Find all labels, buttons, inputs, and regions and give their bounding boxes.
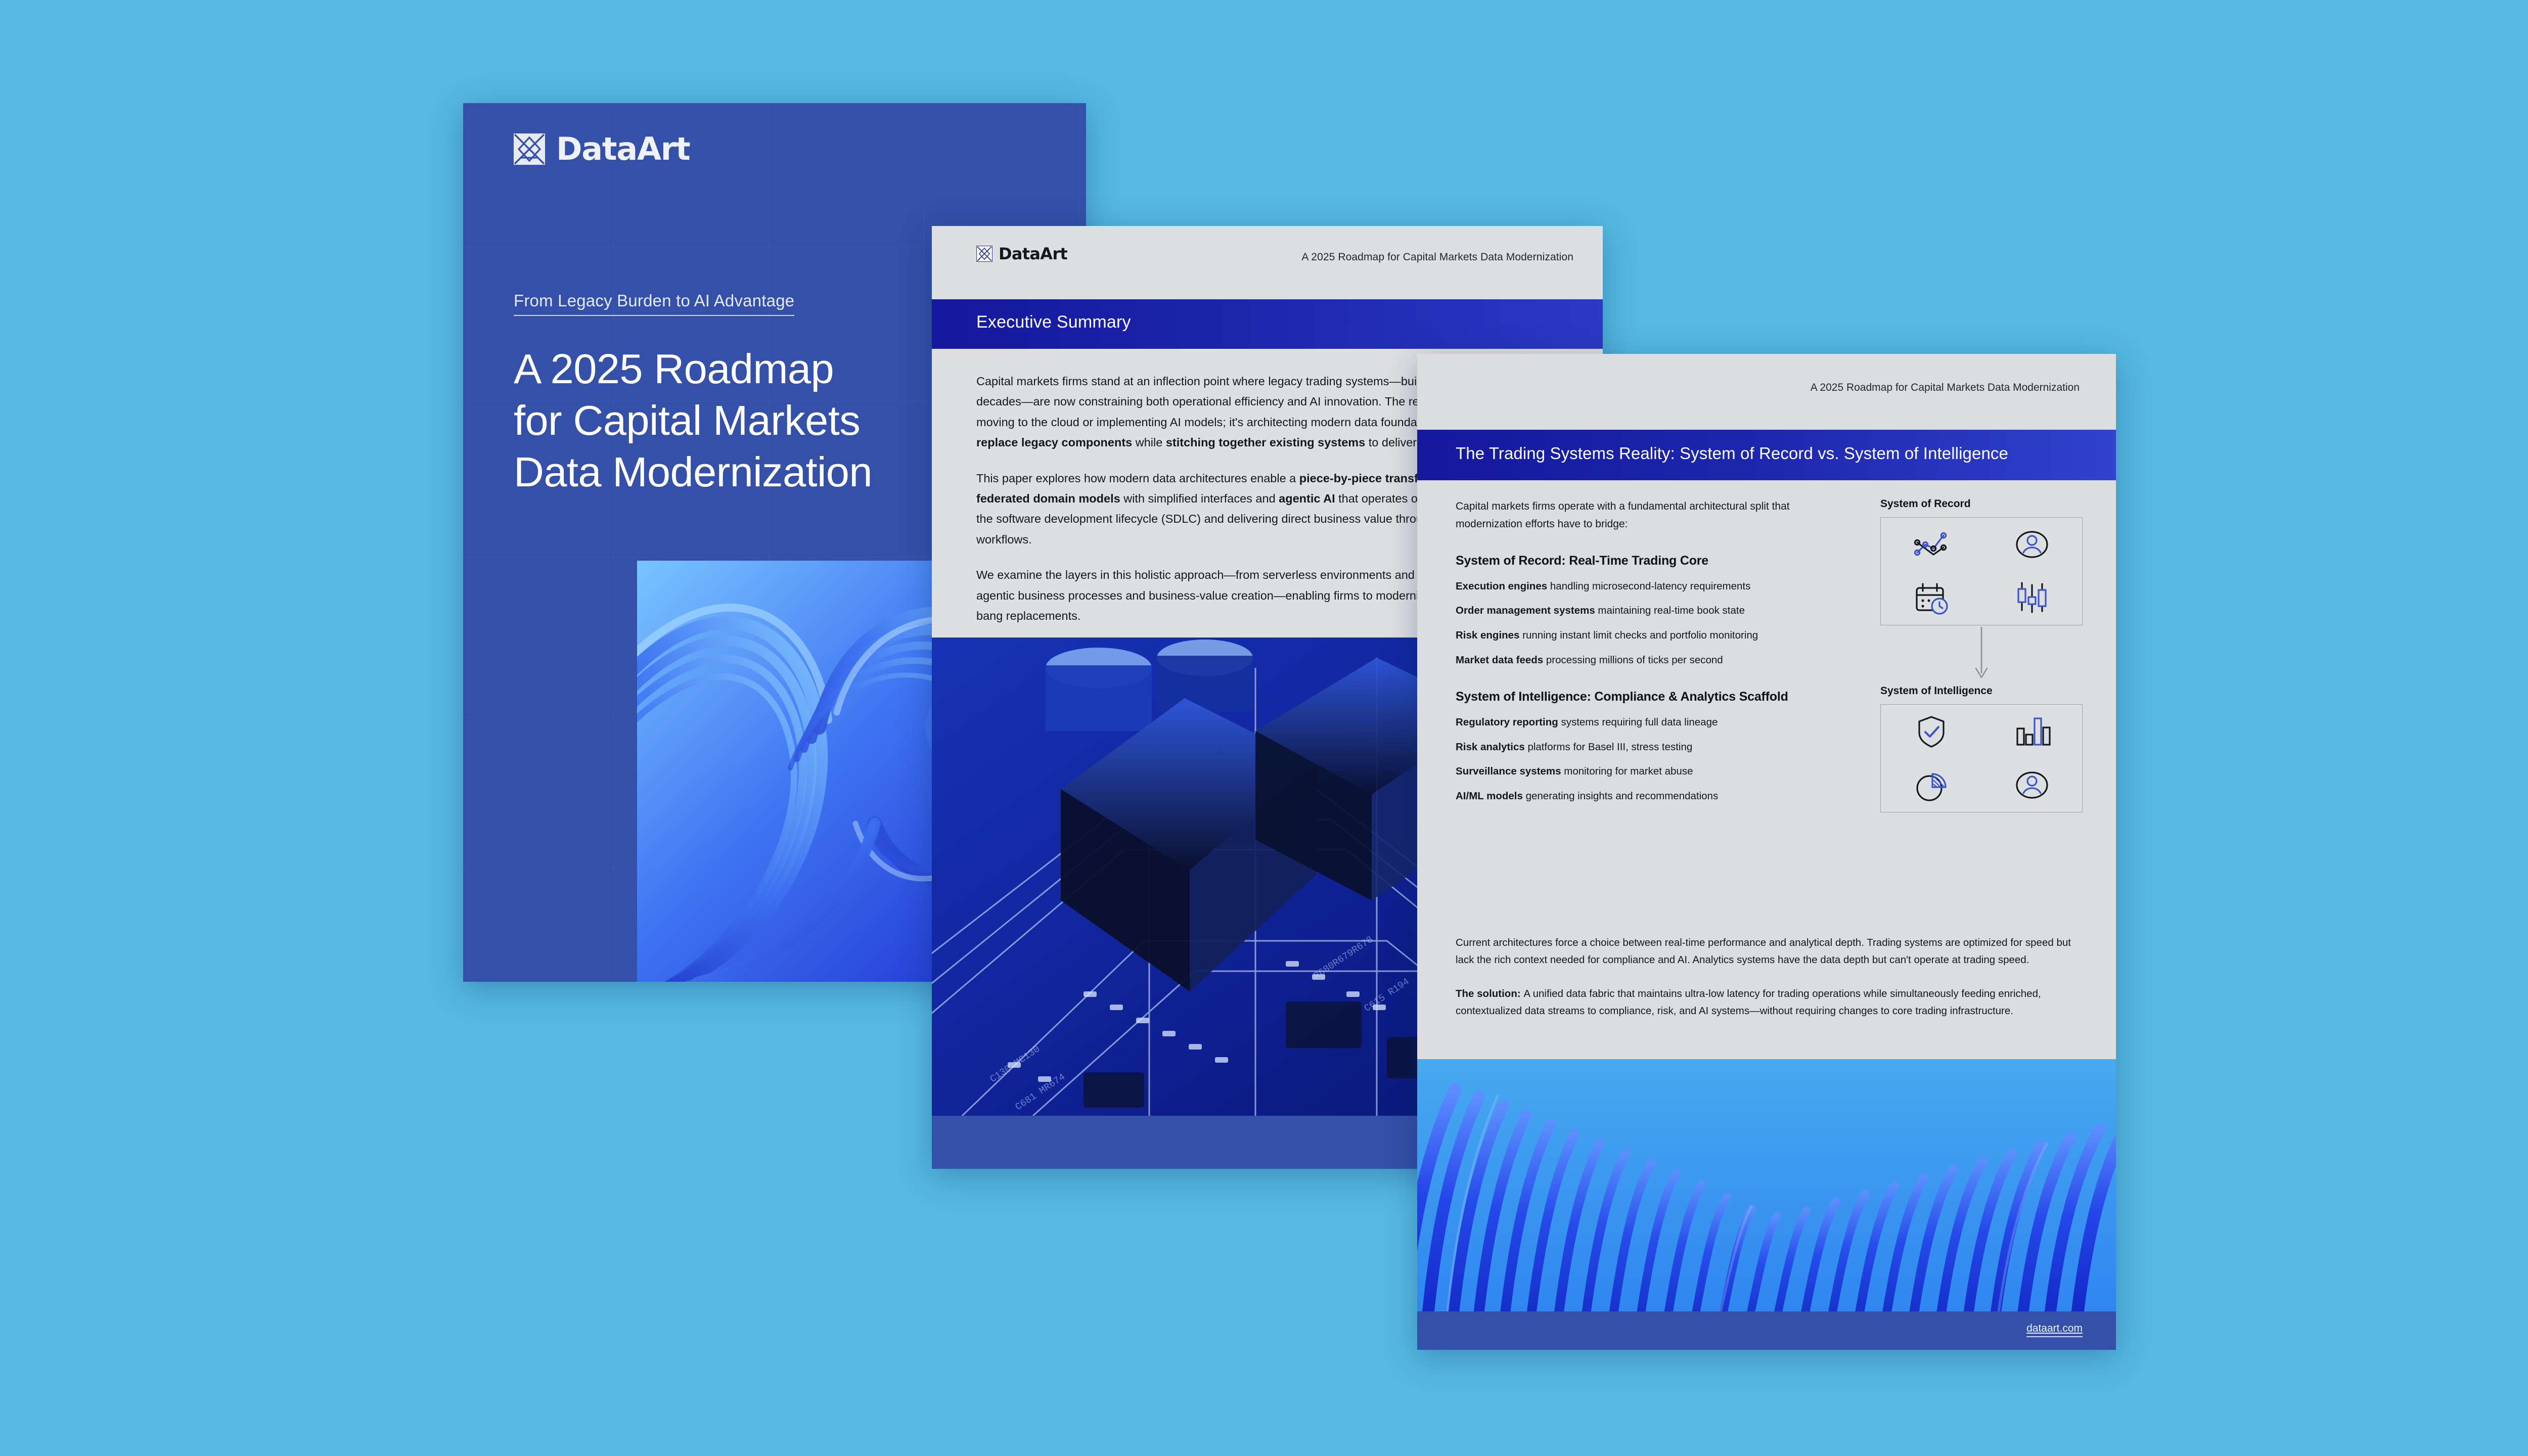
list-item-text: generating insights and recommendations xyxy=(1523,790,1718,802)
list-item-text: systems requiring full data lineage xyxy=(1558,716,1718,728)
list-item: Regulatory reporting systems requiring f… xyxy=(1456,714,1856,731)
emphasis-text: The solution: xyxy=(1456,988,1523,999)
list-item-text: handling microsecond-latency requirement… xyxy=(1547,580,1750,592)
right-text-column: Capital markets firms operate with a fun… xyxy=(1456,498,1856,826)
list-item: Risk engines running instant limit check… xyxy=(1456,627,1856,644)
line-chart-nodes-icon xyxy=(1910,523,1953,566)
mid-page-logo: DataArt xyxy=(976,244,1067,263)
right-running-head: A 2025 Roadmap for Capital Markets Data … xyxy=(1811,382,2080,394)
candlestick-chart-icon xyxy=(2011,577,2053,619)
right-group-list: System of Record: Real-Time Trading Core… xyxy=(1456,554,1856,804)
abstract-blue-wave-photo xyxy=(1417,1059,2116,1312)
list-item-lead: Order management systems xyxy=(1456,605,1595,616)
emphasis-text: agentic AI xyxy=(1279,492,1335,505)
shield-check-icon xyxy=(1910,710,1953,753)
body-text: with simplified interfaces and xyxy=(1120,492,1279,505)
list-item-lead: Surveillance systems xyxy=(1456,765,1561,777)
bar-chart-icon xyxy=(2011,710,2053,753)
list-item-text: maintaining real-time book state xyxy=(1595,605,1745,616)
list-item-lead: Risk analytics xyxy=(1456,741,1525,753)
dataart-website-link[interactable]: dataart.com xyxy=(2026,1323,2083,1337)
right-lead-paragraph: Capital markets firms operate with a fun… xyxy=(1456,498,1856,533)
right-page-header: A 2025 Roadmap for Capital Markets Data … xyxy=(1417,354,2116,430)
cover-eyebrow: From Legacy Burden to AI Advantage xyxy=(514,291,794,316)
emphasis-text: federated domain models xyxy=(976,492,1120,505)
dataart-logo-wordmark: DataArt xyxy=(556,133,690,165)
right-section-title: The Trading Systems Reality: System of R… xyxy=(1456,444,2008,463)
group-item-list: Execution engines handling microsecond-l… xyxy=(1456,578,1856,668)
paragraph: Current architectures force a choice bet… xyxy=(1456,934,2085,969)
list-item-text: processing millions of ticks per second xyxy=(1543,654,1723,666)
system-of-intelligence-icon-box xyxy=(1880,704,2083,812)
dataart-logo: DataArt xyxy=(514,133,690,165)
list-item: Market data feeds processing millions of… xyxy=(1456,652,1856,668)
list-item: Execution engines handling microsecond-l… xyxy=(1456,578,1856,595)
list-item: Order management systems maintaining rea… xyxy=(1456,603,1856,619)
list-item-lead: Execution engines xyxy=(1456,580,1547,592)
list-item-text: monitoring for market abuse xyxy=(1561,765,1693,777)
system-of-record-icon-box xyxy=(1880,517,2083,625)
right-content-columns: Capital markets firms operate with a fun… xyxy=(1456,498,2083,826)
dataart-logo-mark-icon xyxy=(514,133,545,165)
mid-running-head: A 2025 Roadmap for Capital Markets Data … xyxy=(1301,251,1573,263)
list-item-lead: AI/ML models xyxy=(1456,790,1523,802)
body-text: Current architectures force a choice bet… xyxy=(1456,937,2071,966)
list-item: Surveillance systems monitoring for mark… xyxy=(1456,763,1856,780)
group-item-list: Regulatory reporting systems requiring f… xyxy=(1456,714,1856,804)
emphasis-text: stitching together existing systems xyxy=(1166,436,1365,449)
list-item-text: platforms for Basel III, stress testing xyxy=(1525,741,1693,753)
list-item-lead: Market data feeds xyxy=(1456,654,1543,666)
system-diagram: System of Record xyxy=(1880,498,2083,826)
body-text: This paper explores how modern data arch… xyxy=(976,472,1299,485)
paragraph: The solution: A unified data fabric that… xyxy=(1456,985,2085,1020)
right-section-bar: The Trading Systems Reality: System of R… xyxy=(1417,430,2116,480)
trading-systems-reality-page[interactable]: A 2025 Roadmap for Capital Markets Data … xyxy=(1417,354,2116,1350)
pie-chart-icon xyxy=(1910,764,1953,806)
mid-section-bar: Executive Summary xyxy=(932,299,1603,349)
user-circle-icon xyxy=(2011,764,2053,806)
mid-page-header: DataArt A 2025 Roadmap for Capital Marke… xyxy=(932,226,1603,299)
list-item-lead: Regulatory reporting xyxy=(1456,716,1558,728)
diagram-top-label: System of Record xyxy=(1880,498,2083,510)
list-item: AI/ML models generating insights and rec… xyxy=(1456,788,1856,804)
mid-section-title: Executive Summary xyxy=(976,312,1131,332)
calendar-clock-icon xyxy=(1910,577,1953,619)
dataart-logo-mark-icon xyxy=(976,246,992,262)
list-item-lead: Risk engines xyxy=(1456,629,1519,641)
diagram-arrow xyxy=(1880,625,2083,685)
right-page-footer: dataart.com xyxy=(1417,1311,2116,1350)
right-bottom-copy: Current architectures force a choice bet… xyxy=(1456,934,2085,1036)
diagram-bottom-label: System of Intelligence xyxy=(1880,685,2083,697)
down-arrow-icon xyxy=(1971,627,1992,684)
group-heading: System of Intelligence: Compliance & Ana… xyxy=(1456,690,1856,704)
list-item-text: running instant limit checks and portfol… xyxy=(1519,629,1758,641)
dataart-logo-wordmark: DataArt xyxy=(999,244,1067,263)
body-text: while xyxy=(1132,436,1166,449)
presentation-stage: DataArt From Legacy Burden to AI Advanta… xyxy=(0,0,2528,1456)
body-text: A unified data fabric that maintains ult… xyxy=(1456,988,2041,1017)
list-item: Risk analytics platforms for Basel III, … xyxy=(1456,739,1856,755)
user-circle-icon xyxy=(2011,523,2053,566)
group-heading: System of Record: Real-Time Trading Core xyxy=(1456,554,1856,568)
